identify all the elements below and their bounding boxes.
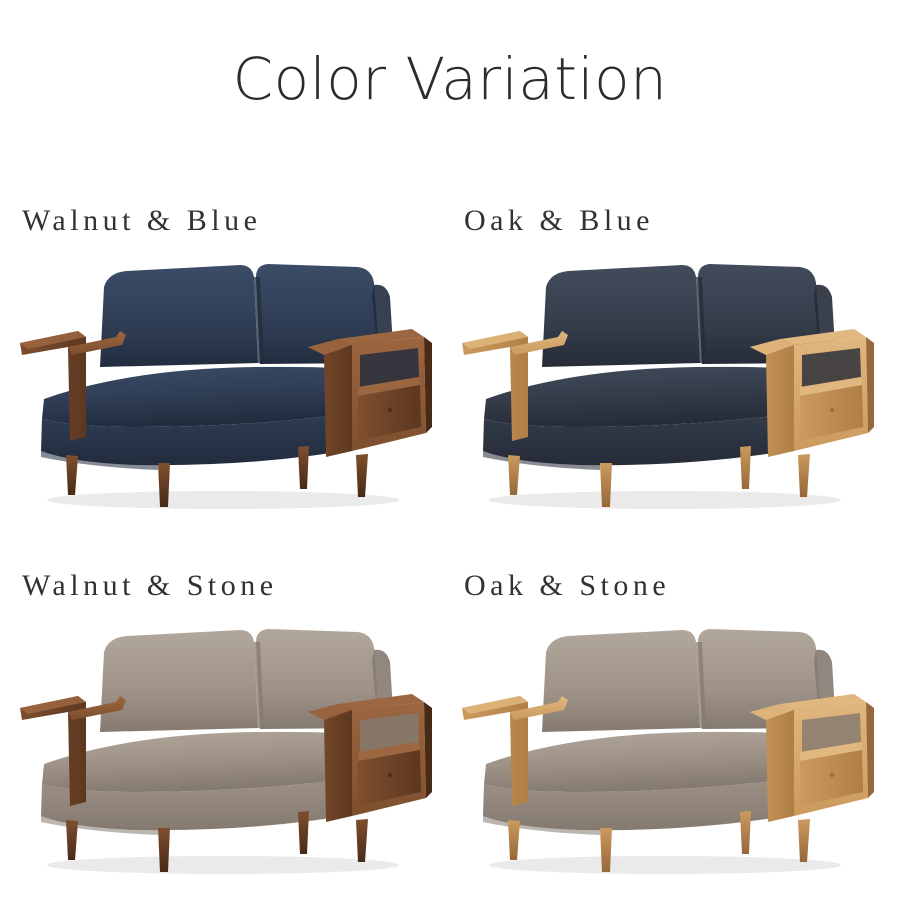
leg-front-left	[508, 455, 520, 495]
back-cushion-left	[100, 265, 258, 367]
leg-front-center	[158, 463, 170, 507]
variation-card-walnut-blue[interactable]: Walnut & Blue	[8, 196, 448, 541]
sofa-illustration	[450, 616, 890, 896]
sofa-image-walnut-stone[interactable]	[8, 616, 448, 896]
variation-label: Oak & Blue	[464, 204, 654, 238]
leg-front-left	[508, 820, 520, 860]
shelf-knob	[388, 773, 392, 777]
back-cushion-left	[542, 265, 700, 367]
leg-front-left	[66, 455, 78, 495]
variation-card-oak-blue[interactable]: Oak & Blue	[450, 196, 890, 541]
leg-front-right	[356, 454, 368, 497]
leg-rear-right	[298, 811, 309, 854]
shelf-knob	[830, 408, 834, 412]
variation-card-oak-stone[interactable]: Oak & Stone	[450, 561, 890, 900]
leg-front-center	[600, 828, 612, 872]
sofa-image-oak-stone[interactable]	[450, 616, 890, 896]
back-cushion-left	[542, 630, 700, 732]
page-title: Color Variation	[0, 48, 900, 112]
back-cushion-left	[100, 630, 258, 732]
leg-rear-right	[298, 446, 309, 489]
shelf-knob	[388, 408, 392, 412]
sofa-illustration	[8, 616, 448, 896]
variation-label: Walnut & Stone	[22, 569, 278, 603]
sofa-illustration	[8, 251, 448, 531]
leg-rear-right	[740, 811, 751, 854]
variation-card-walnut-stone[interactable]: Walnut & Stone	[8, 561, 448, 900]
sofa-illustration	[450, 251, 890, 531]
color-variation-grid: Walnut & Blue	[0, 196, 900, 896]
sofa-image-walnut-blue[interactable]	[8, 251, 448, 531]
leg-front-center	[600, 463, 612, 507]
leg-front-left	[66, 820, 78, 860]
variation-label: Walnut & Blue	[22, 204, 261, 238]
leg-front-right	[798, 819, 810, 862]
leg-front-center	[158, 828, 170, 872]
leg-front-right	[356, 819, 368, 862]
leg-rear-right	[740, 446, 751, 489]
variation-label: Oak & Stone	[464, 569, 670, 603]
leg-front-right	[798, 454, 810, 497]
sofa-image-oak-blue[interactable]	[450, 251, 890, 531]
shelf-knob	[830, 773, 834, 777]
